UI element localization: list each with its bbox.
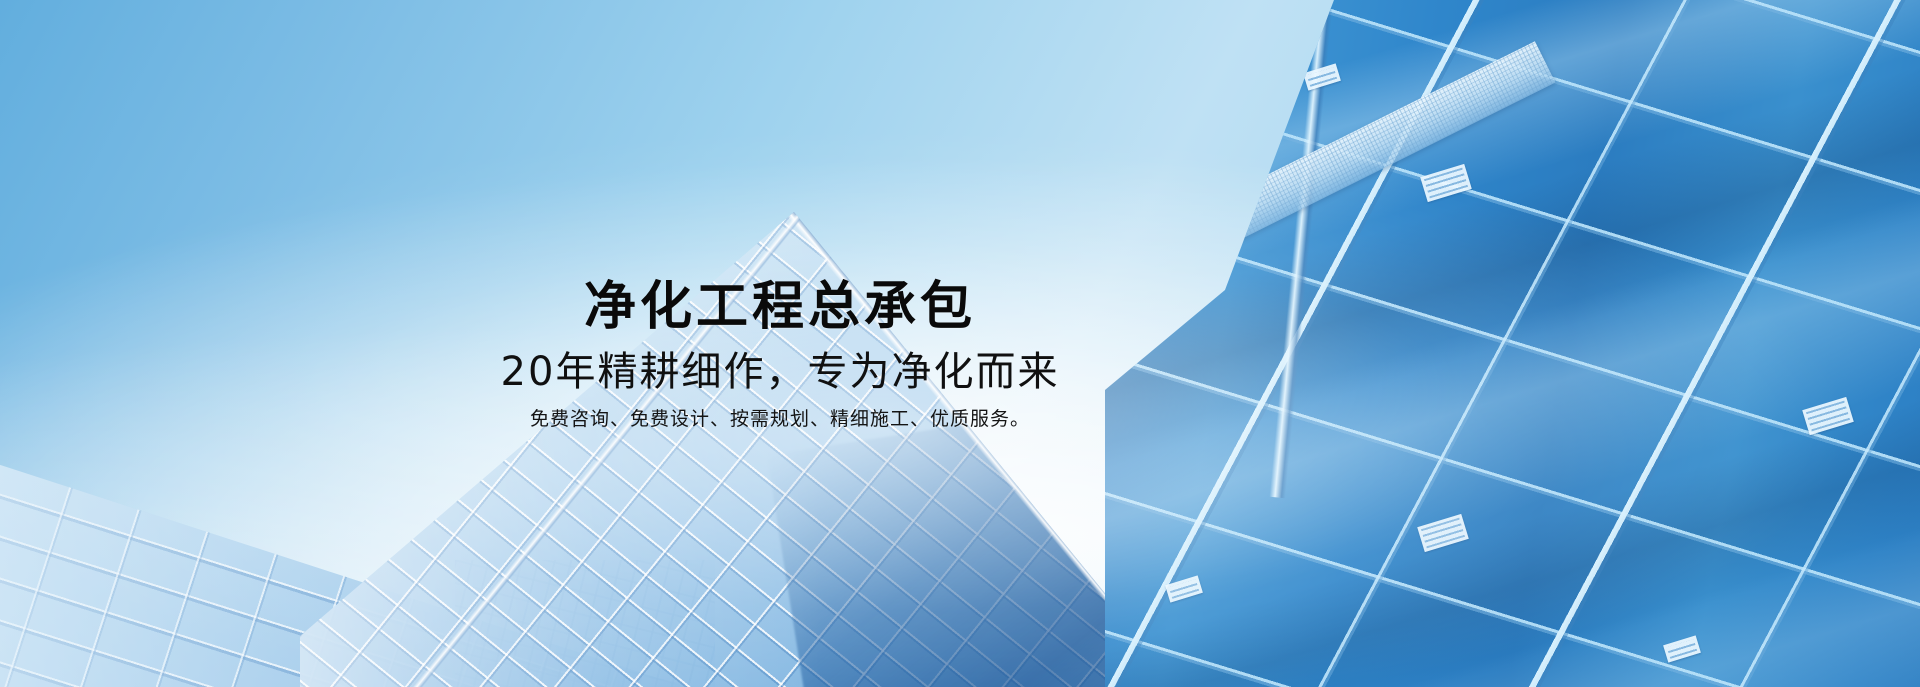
hero-tagline: 免费咨询、免费设计、按需规划、精细施工、优质服务。 <box>0 404 1560 431</box>
hero-copy-block: 净化工程总承包 20年精耕细作，专为净化而来 免费咨询、免费设计、按需规划、精细… <box>0 278 1560 431</box>
hero-subtitle: 20年精耕细作，专为净化而来 <box>0 348 1560 396</box>
hero-banner: 净化工程总承包 20年精耕细作，专为净化而来 免费咨询、免费设计、按需规划、精细… <box>0 0 1920 687</box>
page-title: 净化工程总承包 <box>0 278 1560 338</box>
